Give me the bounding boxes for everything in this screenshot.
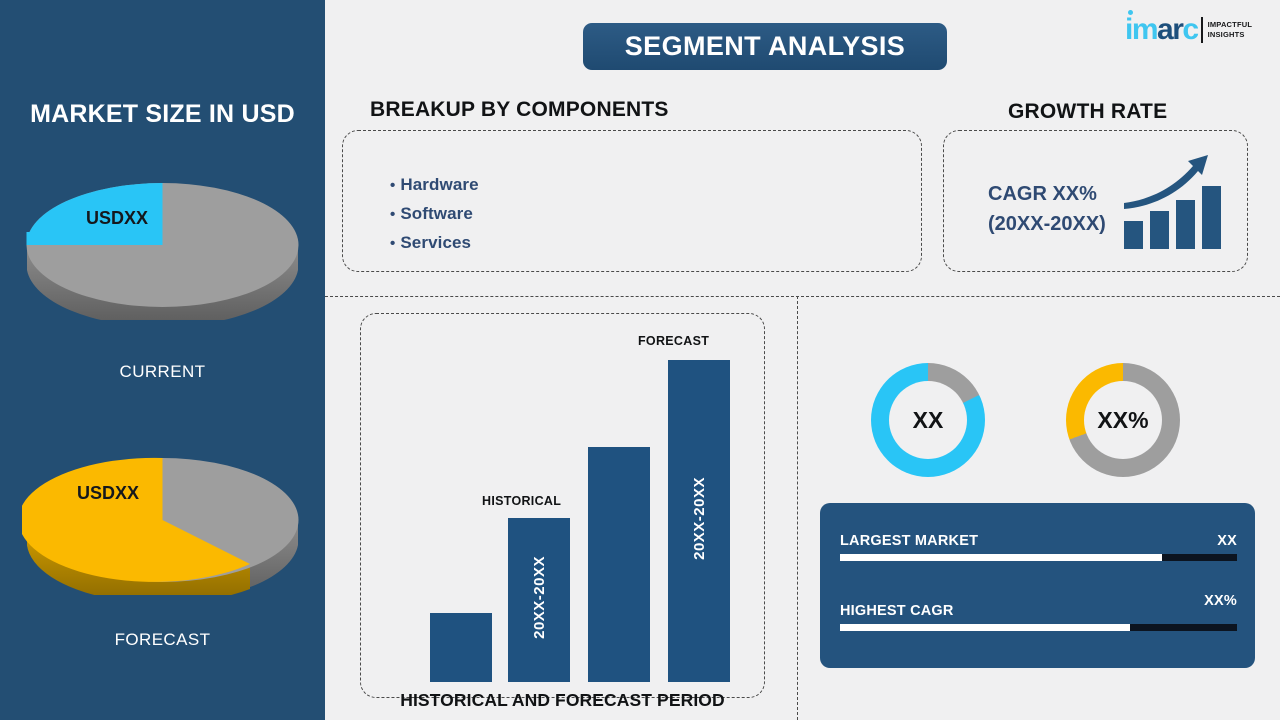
stat-value-highest-cagr: XX% [1204,593,1237,609]
stat-fill-highest-cagr [840,624,1130,631]
growth-rate-heading: GROWTH RATE [1008,100,1167,124]
logo-word-part-a: im [1125,13,1157,46]
forecast-pie-3d [22,445,303,595]
logo-tagline: IMPACTFUL INSIGHTS [1208,20,1253,40]
bar-4-label: 20XX-20XX [691,477,708,560]
components-box: •Hardware •Software •Services [342,130,922,272]
stat-track-largest-market [840,554,1237,561]
current-pie-slice-label: USDXX [62,208,172,229]
stat-fill-largest-market [840,554,1162,561]
vertical-divider [797,296,798,720]
segment-analysis-title: SEGMENT ANALYSIS [625,31,905,62]
bar-chart-caption: HISTORICAL AND FORECAST PERIOD [360,690,765,711]
stat-value-largest-market: XX [1217,533,1237,549]
bullet-icon: • [390,235,395,252]
bar-2: 20XX-20XX [508,518,570,682]
bar-2-label: 20XX-20XX [531,556,548,639]
bar-4: 20XX-20XX [668,360,730,682]
bar-annotation-forecast: FORECAST [638,334,709,348]
imarc-logo: imarc IMPACTFUL INSIGHTS [1125,12,1252,48]
component-item-services: •Services [390,229,479,258]
market-size-title: MARKET SIZE IN USD [0,100,325,129]
imarc-wordmark: imarc [1125,15,1198,45]
key-stats-panel: LARGEST MARKET XX HIGHEST CAGR XX% [820,503,1255,668]
logo-dot-icon [1128,10,1133,15]
forecast-pie-chart: USDXX FORECAST [0,445,325,605]
component-label: Services [400,233,471,252]
current-pie-3d [22,170,303,320]
bar-annotation-historical: HISTORICAL [482,494,561,508]
bar-3 [588,447,650,682]
forecast-pie-caption: FORECAST [0,630,325,650]
bar-chart: HISTORICAL FORECAST 20XX-20XX 20XX-20XX … [360,330,765,682]
stat-label-largest-market: LARGEST MARKET [840,533,978,549]
current-pie-caption: CURRENT [0,362,325,382]
growth-share-donut-center: XX% [1084,381,1162,459]
growth-share-donut-value: XX% [1097,407,1148,434]
bullet-icon: • [390,206,395,223]
logo-word-part-c: c [1182,13,1197,46]
market-share-donut-center: XX [889,381,967,459]
growth-share-donut: XX% [1066,363,1180,477]
market-share-donut-value: XX [913,407,944,434]
forecast-pie-slice-label: USDXX [48,483,168,504]
segment-analysis-content: SEGMENT ANALYSIS imarc IMPACTFUL INSIGHT… [325,0,1280,720]
market-size-panel: MARKET SIZE IN USD USDXX CURRENT [0,0,325,720]
horizontal-divider [325,296,1280,297]
component-label: Hardware [400,175,478,194]
components-heading: BREAKUP BY COMPONENTS [370,98,669,122]
components-list: •Hardware •Software •Services [390,171,479,258]
component-label: Software [400,204,473,223]
logo-word-part-b: ar [1157,13,1182,46]
cagr-text: CAGR XX% (20XX-20XX) [988,179,1106,239]
market-share-donut: XX [871,363,985,477]
bar-1 [430,613,492,682]
stat-label-highest-cagr: HIGHEST CAGR [840,603,954,619]
segment-analysis-banner: SEGMENT ANALYSIS [583,23,947,70]
growth-arrow-bars-icon [1122,153,1226,253]
logo-divider [1201,17,1203,43]
stat-track-highest-cagr [840,624,1237,631]
current-pie-chart: USDXX CURRENT [0,170,325,330]
cagr-line1: CAGR XX% [988,179,1106,209]
stat-row-largest-market: LARGEST MARKET XX [840,531,1237,561]
component-item-software: •Software [390,200,479,229]
stat-row-highest-cagr: HIGHEST CAGR XX% [840,601,1237,631]
growth-rate-box: CAGR XX% (20XX-20XX) [943,130,1248,272]
logo-tagline-line1: IMPACTFUL [1208,20,1253,29]
component-item-hardware: •Hardware [390,171,479,200]
bullet-icon: • [390,177,395,194]
cagr-line2: (20XX-20XX) [988,209,1106,239]
logo-tagline-line2: INSIGHTS [1208,30,1245,39]
